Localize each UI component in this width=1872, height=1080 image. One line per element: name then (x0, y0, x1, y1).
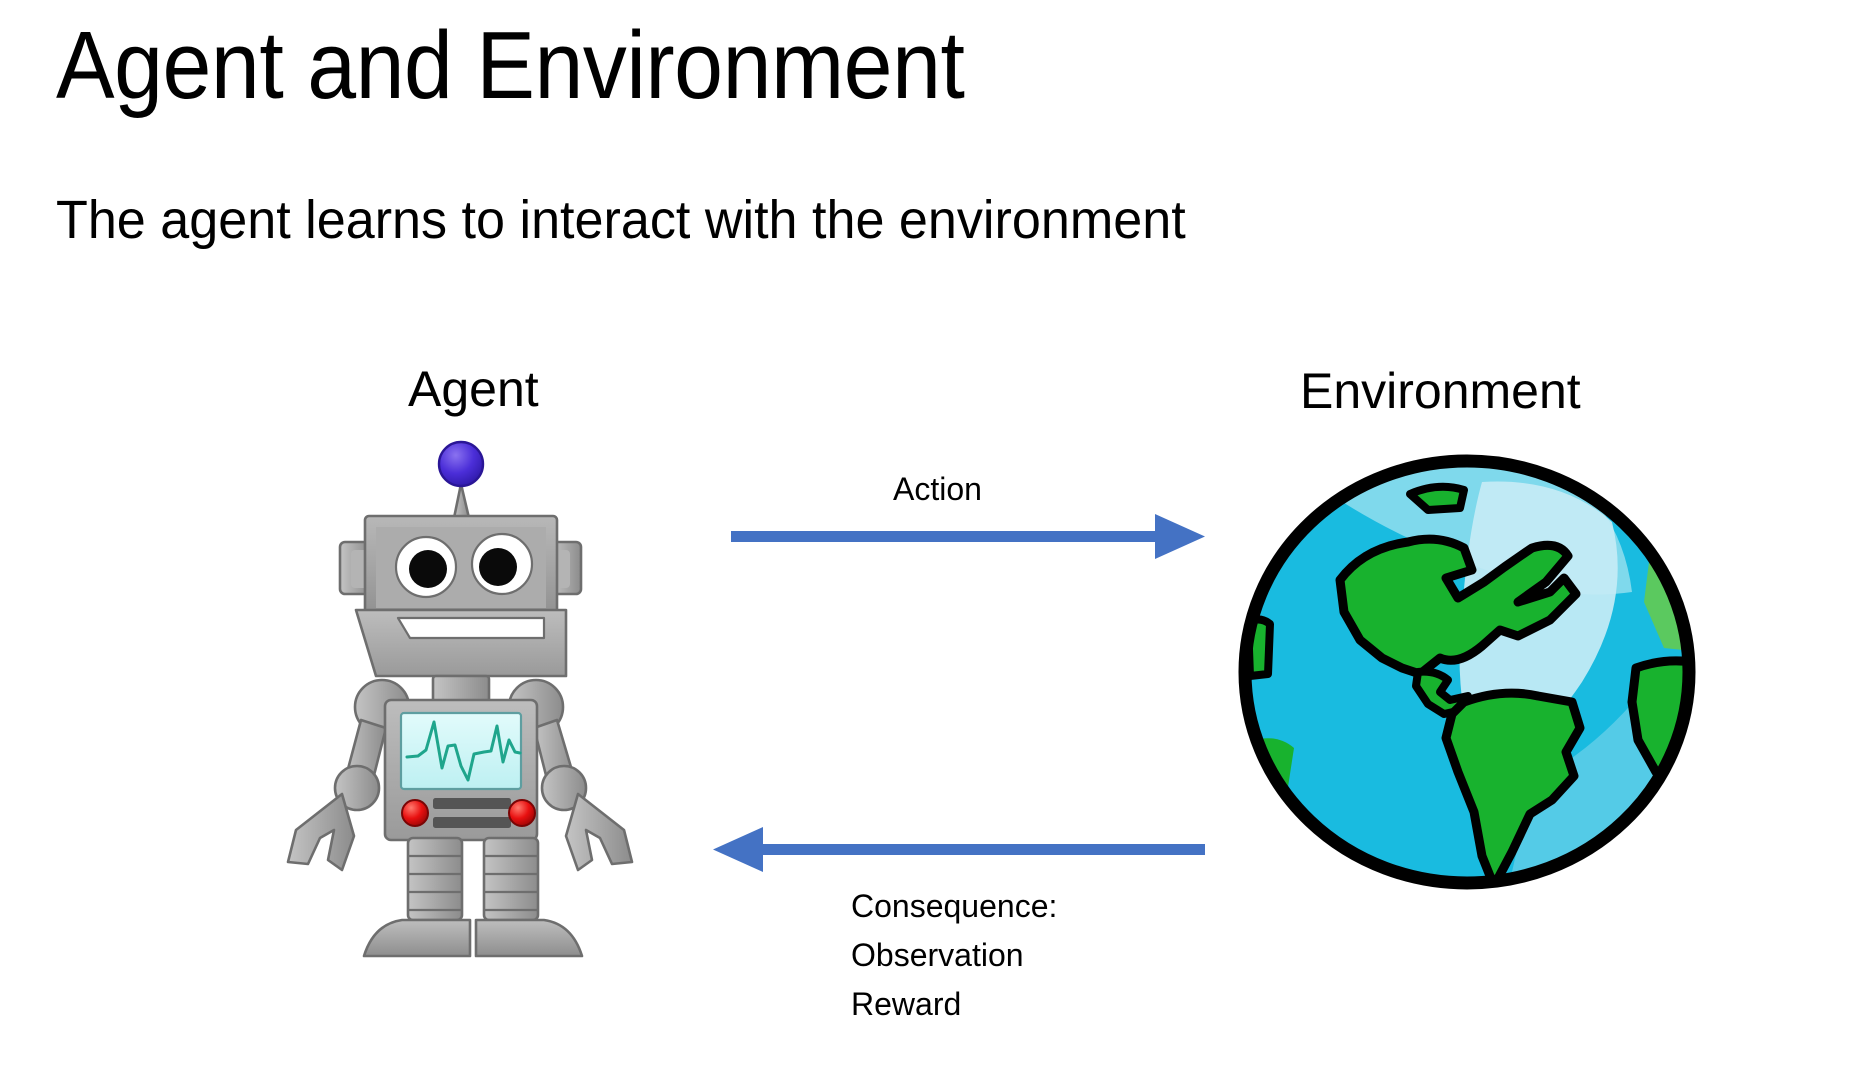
robot-claw-right (566, 794, 632, 870)
robot-mouth (356, 610, 566, 676)
robot-button-right (509, 800, 535, 826)
globe-greenland (1410, 487, 1464, 510)
robot-torso (385, 700, 537, 840)
robot-leg-right (476, 838, 582, 956)
consequence-arrow-label: Consequence: Observation Reward (851, 882, 1057, 1029)
robot-claw-left (288, 794, 354, 870)
robot-slot-top (433, 798, 511, 809)
globe-illustration (1232, 452, 1702, 892)
robot-button-left (402, 800, 428, 826)
consequence-arrow-head (713, 827, 763, 872)
robot-eye-right (472, 534, 532, 594)
action-arrow-label: Action (893, 473, 982, 505)
robot-boot-right (476, 920, 582, 956)
robot-leg-left (364, 838, 470, 956)
consequence-arrow-shaft (762, 844, 1205, 855)
robot-antenna (439, 442, 483, 518)
robot-eye-left (396, 537, 456, 597)
consequence-label-line2: Observation (851, 931, 1057, 980)
consequence-label-line1: Consequence: (851, 882, 1057, 931)
environment-heading: Environment (1300, 366, 1581, 416)
agent-heading: Agent (408, 364, 539, 414)
action-arrow-shaft (731, 531, 1158, 542)
robot-head (365, 516, 557, 622)
page-title: Agent and Environment (56, 14, 964, 118)
robot-boot-left (364, 920, 470, 956)
robot-illustration (258, 432, 648, 982)
robot-chest-screen (401, 713, 521, 789)
robot-antenna-ball (439, 442, 483, 486)
consequence-label-line3: Reward (851, 980, 1057, 1029)
slide-subtitle: The agent learns to interact with the en… (56, 189, 1186, 251)
action-arrow-head (1155, 514, 1205, 559)
robot-slot-bottom (433, 817, 511, 828)
